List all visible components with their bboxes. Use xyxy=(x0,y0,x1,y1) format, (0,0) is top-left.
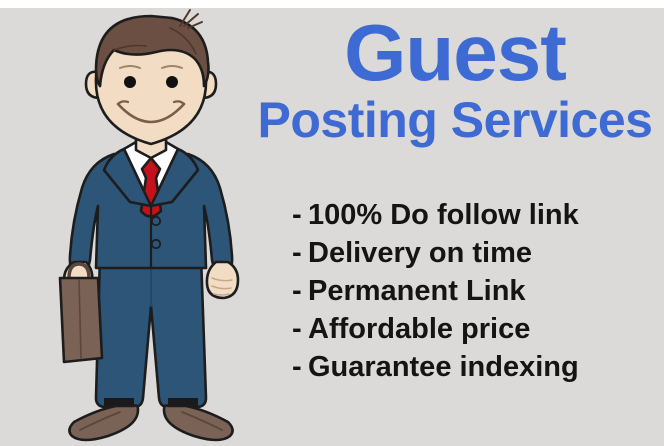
suit-button-upper xyxy=(152,217,160,225)
right-shoe xyxy=(164,406,233,441)
list-item: -Guarantee indexing xyxy=(292,348,664,386)
list-item: -Permanent Link xyxy=(292,272,664,310)
guest-posting-services-banner: Guest Posting Services -100% Do follow l… xyxy=(0,0,664,446)
businessman-illustration xyxy=(38,6,268,446)
left-shoe xyxy=(69,406,138,441)
left-eye xyxy=(124,76,136,88)
headline-block: Guest Posting Services xyxy=(246,14,664,147)
bullet-dash-icon: - xyxy=(292,310,308,348)
bullet-dash-icon: - xyxy=(292,234,308,272)
right-eye xyxy=(166,76,178,88)
page-subtitle: Posting Services xyxy=(246,94,664,147)
list-item: -Delivery on time xyxy=(292,234,664,272)
list-item: -Affordable price xyxy=(292,310,664,348)
suit-button-lower xyxy=(152,240,160,248)
list-item-label: Delivery on time xyxy=(308,237,532,269)
list-item-label: Guarantee indexing xyxy=(308,351,579,383)
list-item: -100% Do follow link xyxy=(292,196,664,234)
bullet-dash-icon: - xyxy=(292,196,308,234)
list-item-label: Affordable price xyxy=(308,313,530,345)
top-white-band xyxy=(0,0,664,8)
list-item-label: 100% Do follow link xyxy=(308,199,579,231)
bullet-dash-icon: - xyxy=(292,272,308,310)
feature-list: -100% Do follow link -Delivery on time -… xyxy=(292,196,664,386)
bullet-dash-icon: - xyxy=(292,348,308,386)
list-item-label: Permanent Link xyxy=(308,275,526,307)
page-title: Guest xyxy=(246,14,664,92)
